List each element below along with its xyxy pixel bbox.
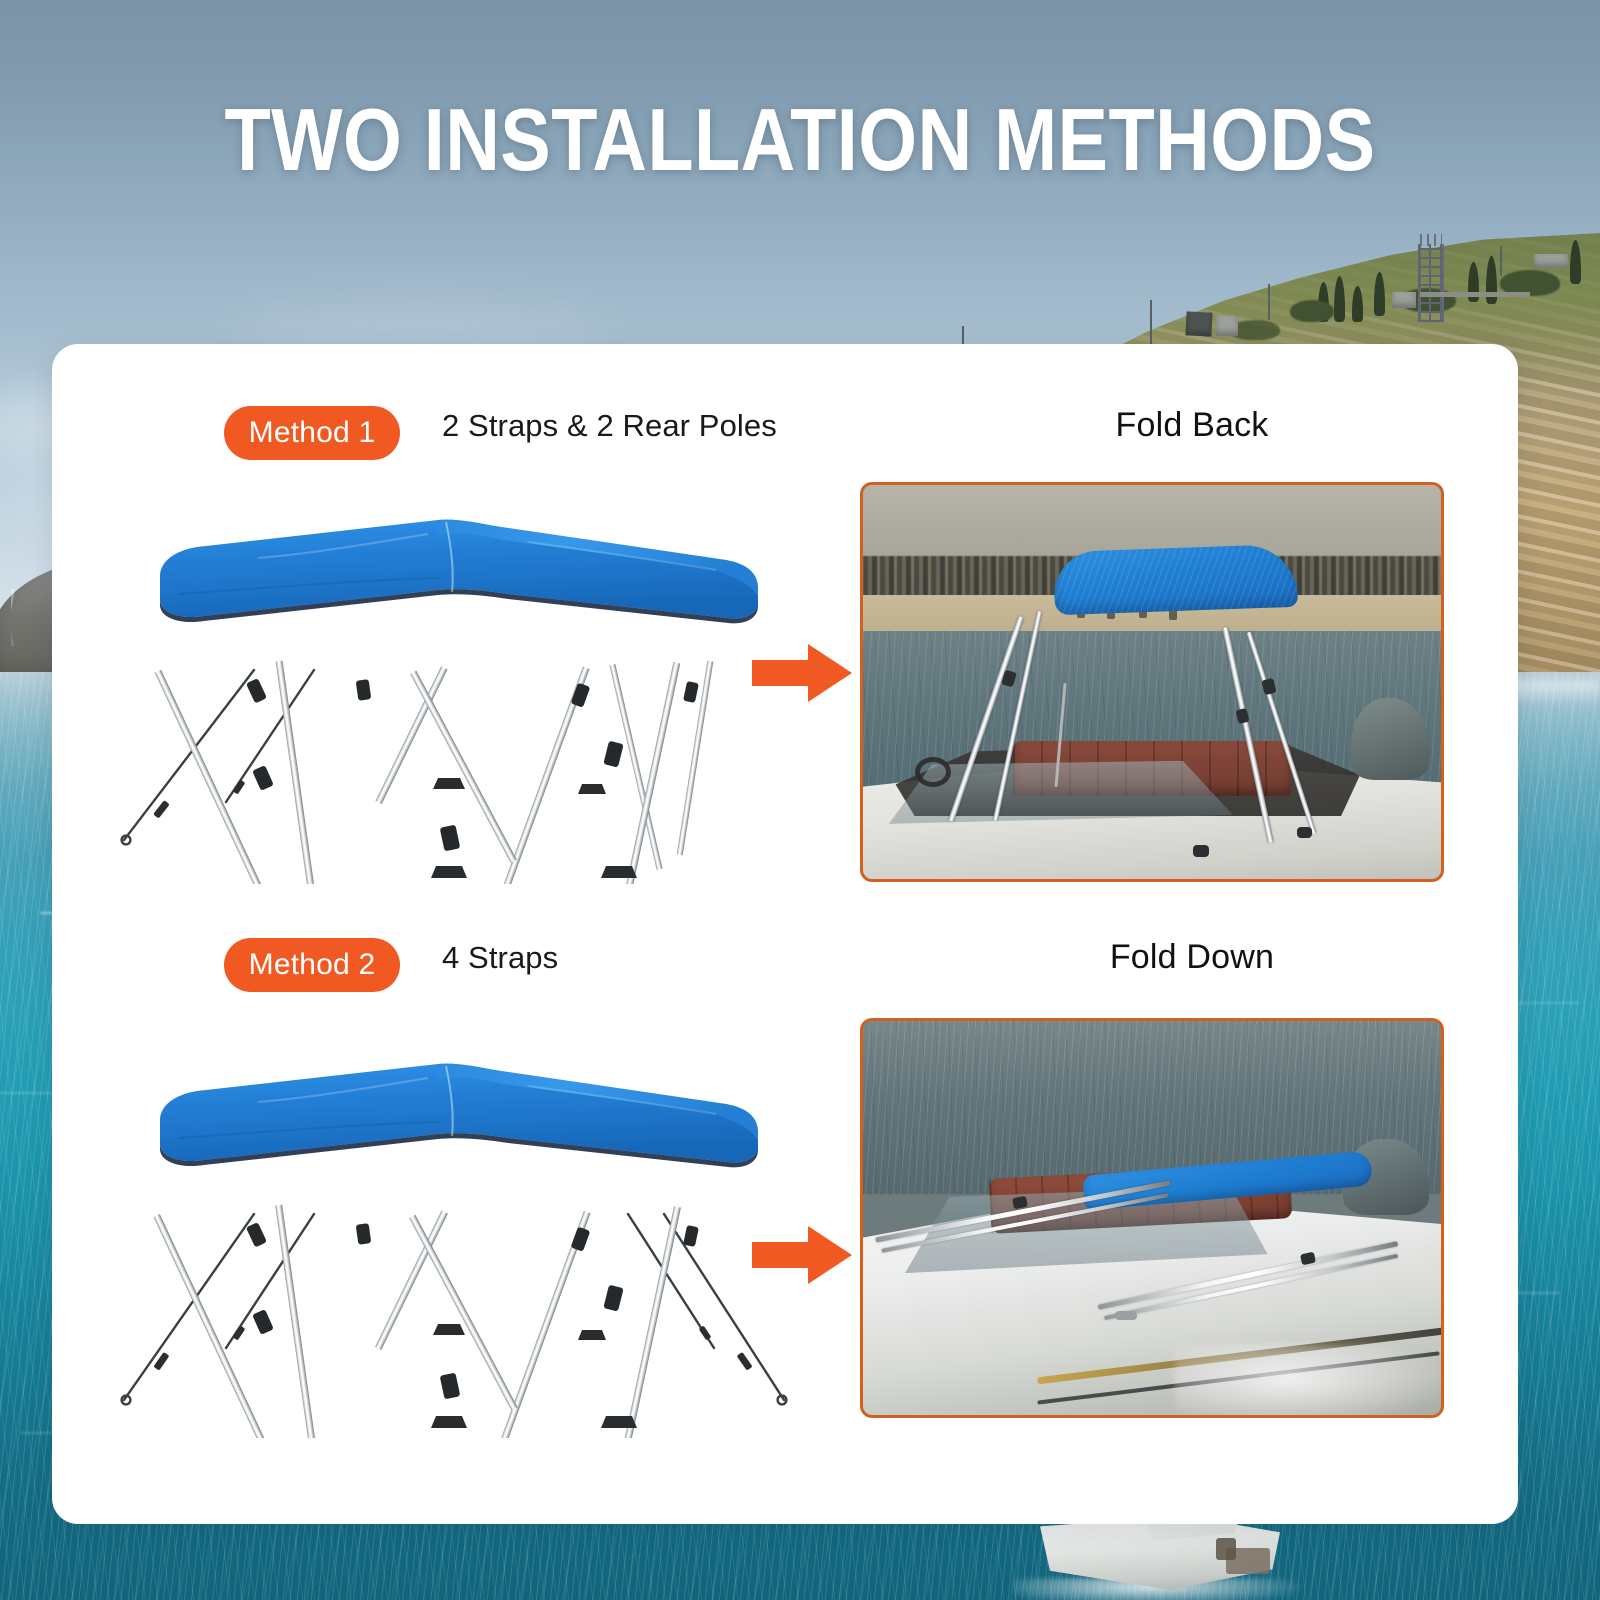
hilltop-building <box>1392 292 1416 308</box>
bimini-top-two-strap-diagram <box>108 484 798 884</box>
yacht-deck-detail <box>1216 1538 1236 1560</box>
deck-mount-brackets <box>431 778 637 878</box>
fold-back-heading: Fold Back <box>992 406 1392 445</box>
hilltop-building <box>1534 254 1568 268</box>
page-title: TWO INSTALLATION METHODS <box>112 96 1488 184</box>
photo-bimini-canvas <box>1053 544 1298 615</box>
bimini-top-four-strap-diagram <box>108 1018 798 1438</box>
fold-down-heading: Fold Down <box>992 938 1392 977</box>
deck-mount-brackets <box>431 1324 637 1428</box>
hilltop-roofline <box>1420 292 1530 297</box>
pole-joint-fittings <box>246 678 699 851</box>
photo-strap-clip <box>1115 1311 1137 1320</box>
utility-pole <box>1150 300 1152 344</box>
photo-deck-mount <box>1297 827 1312 838</box>
arrow-shaft <box>752 1242 814 1268</box>
hilltop-bush <box>1290 300 1334 322</box>
content-card: Method 1 2 Straps & 2 Rear Poles Fold Ba… <box>52 344 1518 1524</box>
hilltop-building <box>1216 316 1238 336</box>
boat-bimini-folded-back-photo <box>860 482 1444 882</box>
bimini-diagram-svg <box>108 1018 798 1438</box>
bimini-diagram-svg <box>108 484 798 884</box>
photo-deck-mount <box>1193 845 1209 857</box>
method-2-arrow <box>752 1226 852 1284</box>
method-2-subtitle: 4 Straps <box>442 940 558 976</box>
bimini-canopy <box>160 1064 758 1168</box>
method-1-badge: Method 1 <box>224 406 400 460</box>
bimini-frame-poles <box>153 1205 680 1438</box>
utility-pole <box>1500 246 1502 276</box>
rear-support-poles <box>609 661 713 870</box>
pole-joint-fittings <box>246 1222 699 1399</box>
bimini-frame-poles <box>155 661 681 884</box>
utility-pole <box>1268 284 1270 320</box>
arrow-head-icon <box>808 1226 852 1284</box>
arrow-shaft <box>752 660 814 686</box>
boat-bimini-folded-down-photo <box>860 1018 1444 1418</box>
bimini-canopy <box>160 520 758 624</box>
radio-tower <box>1418 244 1444 322</box>
method-1-subtitle: 2 Straps & 2 Rear Poles <box>442 408 777 444</box>
arrow-head-icon <box>808 644 852 702</box>
method-1-arrow <box>752 644 852 702</box>
photo-steering-wheel <box>915 757 951 787</box>
hilltop-building <box>1185 311 1212 336</box>
photo-boat-wake <box>1175 1344 1444 1418</box>
method-2-badge: Method 2 <box>224 938 400 992</box>
